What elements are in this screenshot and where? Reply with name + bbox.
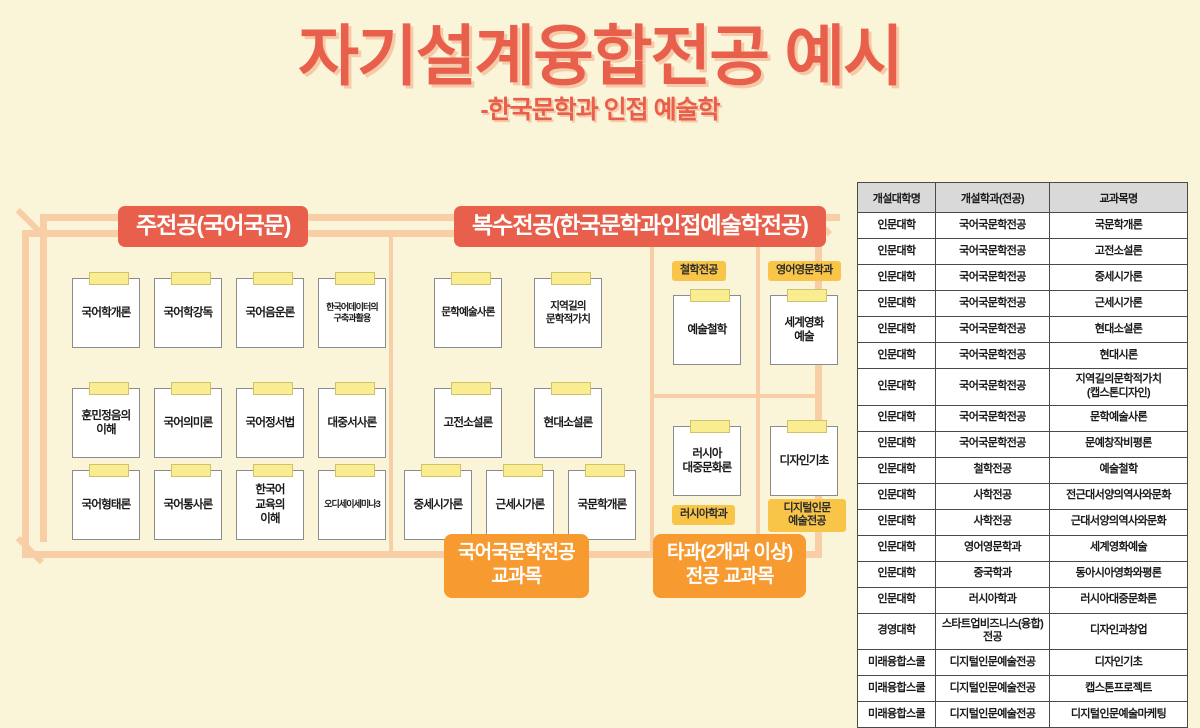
table-cell: 러시아학과 (936, 587, 1050, 613)
diagram-area: 주전공(국어국문) 복수전공(한국문학과인접예술학전공) 국어학개론 국어학강독… (22, 196, 840, 576)
table-row: 인문대학영어영문학과세계영화예술 (858, 535, 1188, 561)
table-cell: 디지털인문예술전공 (936, 702, 1050, 728)
table-cell: 인문대학 (858, 239, 936, 265)
table-cell: 인문대학 (858, 561, 936, 587)
table-cell: 지역길의문학적가치(캡스톤디자인) (1050, 369, 1188, 406)
table-cell: 국어국문학전공 (936, 369, 1050, 406)
table-cell: 인문대학 (858, 213, 936, 239)
table-cell: 미래융합스쿨 (858, 676, 936, 702)
table-row: 인문대학국어국문학전공현대소설론 (858, 317, 1188, 343)
table-cell: 국문학개론 (1050, 213, 1188, 239)
course-card[interactable]: 국어통사론 (154, 470, 222, 540)
dept-label: 영어영문학과 (768, 261, 841, 281)
course-card[interactable]: 한국어데이터의구축과활용 (318, 278, 386, 348)
table-row: 인문대학사학전공전근대서양의역사와문화 (858, 483, 1188, 509)
course-card[interactable]: 세계영화예술 (770, 295, 838, 365)
table-cell: 현대소설론 (1050, 317, 1188, 343)
card-tab (787, 420, 827, 433)
card-tab (421, 464, 461, 477)
table-cell: 인문대학 (858, 457, 936, 483)
table-cell: 디지털인문예술전공 (936, 650, 1050, 676)
table-cell: 국어국문학전공 (936, 405, 1050, 431)
table-cell: 국어국문학전공 (936, 239, 1050, 265)
card-tab (451, 382, 491, 395)
column-header-college: 개설대학명 (858, 183, 936, 213)
dept-label: 디지털인문예술전공 (768, 499, 846, 532)
table-cell: 인문대학 (858, 535, 936, 561)
banner-other-dept-courses: 타과(2개과 이상)전공 교과목 (653, 534, 806, 598)
table-cell: 디자인기초 (1050, 650, 1188, 676)
course-card[interactable]: 디자인기초 (770, 426, 838, 496)
course-card[interactable]: 예술철학 (673, 295, 741, 365)
table-row: 미래융합스쿨디지털인문예술전공캡스톤프로젝트 (858, 676, 1188, 702)
course-card[interactable]: 국어정서법 (236, 388, 304, 458)
course-card[interactable]: 문학예술사론 (434, 278, 502, 348)
course-card[interactable]: 국어학강독 (154, 278, 222, 348)
course-card[interactable]: 지역길의문학적가치 (534, 278, 602, 348)
page-subtitle: -한국문학과 인접 예술학 (0, 97, 1200, 125)
table-cell: 인문대학 (858, 405, 936, 431)
card-tab (253, 272, 293, 285)
table-cell: 미래융합스쿨 (858, 650, 936, 676)
table-cell: 현대시론 (1050, 343, 1188, 369)
card-tab (787, 289, 827, 302)
table-cell: 중세시가론 (1050, 265, 1188, 291)
course-card[interactable]: 대중서사론 (318, 388, 386, 458)
table-cell: 캡스톤프로젝트 (1050, 676, 1188, 702)
card-tab (171, 464, 211, 477)
card-tab (690, 289, 730, 302)
card-tab (253, 382, 293, 395)
table-cell: 국어국문학전공 (936, 343, 1050, 369)
table-cell: 디지털인문예술전공 (936, 676, 1050, 702)
table-cell: 세계영화예술 (1050, 535, 1188, 561)
card-tab (335, 272, 375, 285)
table-cell: 인문대학 (858, 587, 936, 613)
table-row: 인문대학국어국문학전공문학예술사론 (858, 405, 1188, 431)
table-cell: 인문대학 (858, 431, 936, 457)
dept-label: 러시아학과 (672, 505, 735, 525)
table-cell: 인문대학 (858, 509, 936, 535)
table-cell: 국어국문학전공 (936, 291, 1050, 317)
section-pill-double-major: 복수전공(한국문학과인접예술학전공) (454, 206, 826, 247)
table-cell: 전근대서양의역사와문화 (1050, 483, 1188, 509)
course-table: 개설대학명 개설학과(전공) 교과목명 인문대학국어국문학전공국문학개론인문대학… (857, 182, 1188, 728)
course-card[interactable]: 국문학개론 (568, 470, 636, 540)
table-cell: 국어국문학전공 (936, 265, 1050, 291)
course-card[interactable]: 현대소설론 (534, 388, 602, 458)
table-cell: 스타트업비즈니스(융합)전공 (936, 613, 1050, 650)
table-cell: 디자인과창업 (1050, 613, 1188, 650)
table-row: 인문대학국어국문학전공국문학개론 (858, 213, 1188, 239)
table-row: 인문대학국어국문학전공지역길의문학적가치(캡스톤디자인) (858, 369, 1188, 406)
table-cell: 예술철학 (1050, 457, 1188, 483)
card-tab (253, 464, 293, 477)
column-header-department: 개설학과(전공) (936, 183, 1050, 213)
table-cell: 문학예술사론 (1050, 405, 1188, 431)
card-tab (503, 464, 543, 477)
table-cell: 고전소설론 (1050, 239, 1188, 265)
course-card[interactable]: 국어음운론 (236, 278, 304, 348)
card-tab (89, 272, 129, 285)
table-cell: 문예창작비평론 (1050, 431, 1188, 457)
table-cell: 국어국문학전공 (936, 317, 1050, 343)
table-cell: 인문대학 (858, 483, 936, 509)
course-card[interactable]: 한국어교육의이해 (236, 470, 304, 540)
table-row: 인문대학국어국문학전공고전소설론 (858, 239, 1188, 265)
table-cell: 철학전공 (936, 457, 1050, 483)
table-row: 인문대학철학전공예술철학 (858, 457, 1188, 483)
card-tab (451, 272, 491, 285)
banner-korean-lit-courses: 국어국문학전공교과목 (444, 534, 589, 598)
table-cell: 영어영문학과 (936, 535, 1050, 561)
divider-main-double (389, 234, 393, 554)
card-tab (171, 272, 211, 285)
course-card[interactable]: 오디세이세미나3 (318, 470, 386, 540)
table-cell: 러시아대중문화론 (1050, 587, 1188, 613)
table-row: 인문대학국어국문학전공현대시론 (858, 343, 1188, 369)
card-tab (171, 382, 211, 395)
course-table-wrapper: 개설대학명 개설학과(전공) 교과목명 인문대학국어국문학전공국문학개론인문대학… (857, 182, 1187, 728)
table-cell: 인문대학 (858, 265, 936, 291)
course-card[interactable]: 고전소설론 (434, 388, 502, 458)
divider-other-rows (650, 394, 818, 398)
table-row: 인문대학국어국문학전공중세시가론 (858, 265, 1188, 291)
table-row: 미래융합스쿨디지털인문예술전공디자인기초 (858, 650, 1188, 676)
table-row: 인문대학러시아학과러시아대중문화론 (858, 587, 1188, 613)
table-row: 인문대학국어국문학전공근세시가론 (858, 291, 1188, 317)
table-cell: 인문대학 (858, 317, 936, 343)
table-cell: 사학전공 (936, 509, 1050, 535)
title-block: 자기설계융합전공 예시 -한국문학과 인접 예술학 (0, 22, 1200, 125)
card-tab (551, 272, 591, 285)
table-cell: 근대서양의역사와문화 (1050, 509, 1188, 535)
page-title: 자기설계융합전공 예시 (0, 22, 1200, 91)
table-cell: 경영대학 (858, 613, 936, 650)
course-card[interactable]: 국어학개론 (72, 278, 140, 348)
table-body: 인문대학국어국문학전공국문학개론인문대학국어국문학전공고전소설론인문대학국어국문… (858, 213, 1188, 728)
table-cell: 중국학과 (936, 561, 1050, 587)
course-card[interactable]: 훈민정음의이해 (72, 388, 140, 458)
table-cell: 사학전공 (936, 483, 1050, 509)
table-row: 경영대학스타트업비즈니스(융합)전공디자인과창업 (858, 613, 1188, 650)
card-tab (551, 382, 591, 395)
table-cell: 국어국문학전공 (936, 213, 1050, 239)
course-card[interactable]: 러시아대중문화론 (673, 426, 741, 496)
course-card[interactable]: 근세시가론 (486, 470, 554, 540)
dept-label: 철학전공 (672, 261, 726, 281)
course-card[interactable]: 국어의미론 (154, 388, 222, 458)
table-row: 미래융합스쿨디지털인문예술전공디지털인문예술마케팅 (858, 702, 1188, 728)
column-header-course: 교과목명 (1050, 183, 1188, 213)
course-card[interactable]: 중세시가론 (404, 470, 472, 540)
table-cell: 동아시아영화와평론 (1050, 561, 1188, 587)
poster-root: 자기설계융합전공 예시 -한국문학과 인접 예술학 주전공(국어국문) 복수전공… (0, 0, 1200, 671)
table-row: 인문대학국어국문학전공문예창작비평론 (858, 431, 1188, 457)
table-row: 인문대학중국학과동아시아영화와평론 (858, 561, 1188, 587)
table-cell: 미래융합스쿨 (858, 702, 936, 728)
table-cell: 근세시가론 (1050, 291, 1188, 317)
card-tab (335, 382, 375, 395)
section-pill-main-major: 주전공(국어국문) (118, 206, 308, 247)
card-tab (89, 464, 129, 477)
card-tab (585, 464, 625, 477)
table-cell: 디지털인문예술마케팅 (1050, 702, 1188, 728)
card-tab (335, 464, 375, 477)
table-cell: 인문대학 (858, 343, 936, 369)
card-tab (690, 420, 730, 433)
course-card[interactable]: 국어형태론 (72, 470, 140, 540)
table-cell: 인문대학 (858, 369, 936, 406)
table-header-row: 개설대학명 개설학과(전공) 교과목명 (858, 183, 1188, 213)
table-cell: 인문대학 (858, 291, 936, 317)
table-cell: 국어국문학전공 (936, 431, 1050, 457)
card-tab (89, 382, 129, 395)
table-row: 인문대학사학전공근대서양의역사와문화 (858, 509, 1188, 535)
